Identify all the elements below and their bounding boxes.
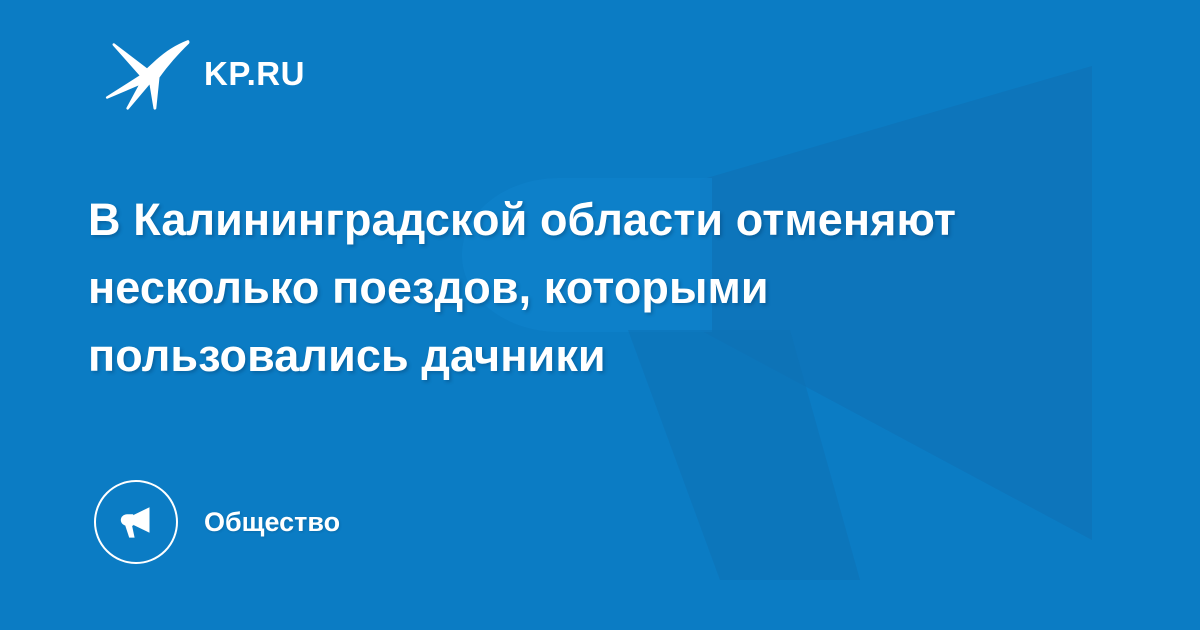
headline: В Калининградской области отменяют неско… [88,186,1078,390]
brand-wordmark: KP.RU [204,57,305,90]
swallow-bird-icon [104,34,190,112]
category-badge[interactable]: Общество [94,480,340,564]
category-label: Общество [204,509,340,536]
megaphone-icon [114,500,158,544]
social-share-card: KP.RU В Калининградской области отменяют… [0,0,1200,630]
brand-logo[interactable]: KP.RU [104,34,305,112]
category-icon-circle [94,480,178,564]
